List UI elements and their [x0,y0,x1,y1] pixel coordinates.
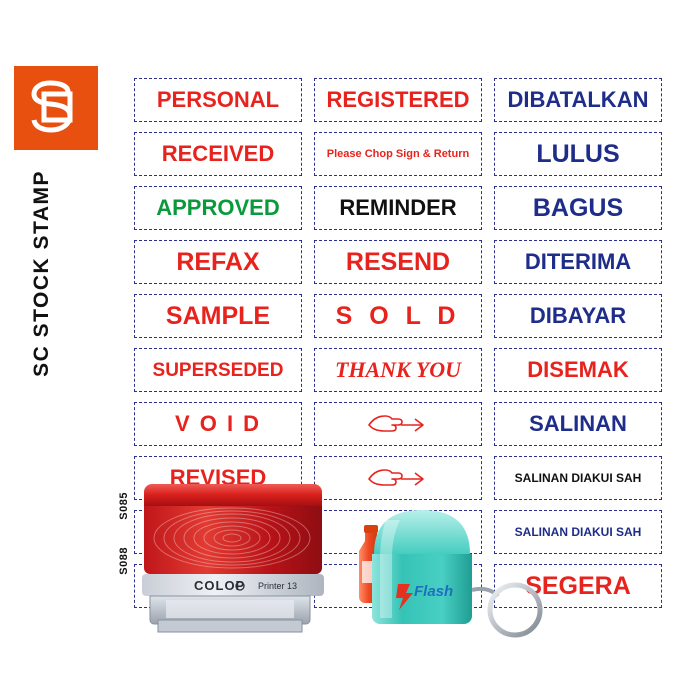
stamp-cell[interactable]: SALINAN DIAKUI SAH [494,456,662,500]
stamp-cell[interactable] [314,510,482,554]
sc-monogram-icon [14,66,98,150]
stamp-row: SESEGERA [134,564,664,608]
stamp-row: REVISEDSALINAN DIAKUI SAH [134,456,664,500]
stamp-label: Please Chop Sign & Return [327,149,469,160]
stamp-cell[interactable]: SUPERSEDED [134,348,302,392]
stamp-cell[interactable]: REMINDER [314,186,482,230]
stamp-label: SALINAN DIAKUI SAH [515,526,642,538]
stamp-label: DISEMAK [527,359,628,381]
product-code-s088: S088 [118,547,130,575]
brand-name: SC STOCK STAMP [30,170,54,377]
stamp-label: LULUS [536,142,619,167]
stamp-cell[interactable]: S O L D [314,294,482,338]
stamp-label: APPROVED [156,197,279,219]
stamp-grid: PERSONALREGISTEREDDIBATALKANRECEIVEDPlea… [134,78,664,618]
pointing-hand-right-icon [363,463,433,493]
stamp-row: RECSALINAN DIAKUI SAH [134,510,664,554]
stamp-label: S O L D [336,304,461,329]
stamp-row: REFAXRESENDDITERIMA [134,240,664,284]
stamp-cell[interactable]: DIBAYAR [494,294,662,338]
stamp-label: RECEIVED [162,143,274,165]
stamp-cell[interactable]: REFAX [134,240,302,284]
stamp-cell[interactable] [314,564,482,608]
stamp-label: REGISTERED [326,89,469,111]
stamp-label: V O I D [175,413,261,435]
stamp-row: RECEIVEDPlease Chop Sign & ReturnLULUS [134,132,664,176]
stamp-cell[interactable] [314,456,482,500]
stamp-label: SE [203,575,232,597]
stamp-row: APPROVEDREMINDERBAGUS [134,186,664,230]
stamp-cell[interactable]: DITERIMA [494,240,662,284]
stamp-cell[interactable]: SE [134,564,302,608]
stamp-cell[interactable]: Please Chop Sign & Return [314,132,482,176]
stamp-cell[interactable]: V O I D [134,402,302,446]
pointing-hand-right-icon [363,409,433,439]
stamp-cell[interactable]: BAGUS [494,186,662,230]
stamp-cell[interactable]: REGISTERED [314,78,482,122]
stamp-label: SEGERA [525,574,631,599]
stamp-label: THANK YOU [335,359,461,381]
stamp-cell[interactable]: RECEIVED [134,132,302,176]
stamp-label: SAMPLE [166,304,270,329]
stamp-cell[interactable]: REC [134,510,302,554]
stamp-cell[interactable]: PERSONAL [134,78,302,122]
stamp-label: PERSONAL [157,89,279,111]
stamp-label: SUPERSEDED [153,361,284,380]
stamp-label: RESEND [346,250,450,275]
stamp-cell[interactable] [314,402,482,446]
stamp-cell[interactable]: SEGERA [494,564,662,608]
stamp-cell[interactable]: DISEMAK [494,348,662,392]
stamp-row: V O I DSALINAN [134,402,664,446]
stamp-label: REC [195,521,241,543]
stamp-cell[interactable]: DIBATALKAN [494,78,662,122]
stamp-cell[interactable]: RESEND [314,240,482,284]
stamp-label: SALINAN [529,413,627,435]
product-code-s085: S085 [118,492,130,520]
stamp-label: REMINDER [339,197,456,219]
stamp-label: REFAX [176,250,259,275]
stamp-label: DIBATALKAN [508,89,649,111]
stamp-row: SAMPLES O L DDIBAYAR [134,294,664,338]
stamp-cell[interactable]: THANK YOU [314,348,482,392]
stamp-cell[interactable]: SALINAN DIAKUI SAH [494,510,662,554]
stamp-label: REVISED [170,467,267,489]
stamp-label: SALINAN DIAKUI SAH [515,472,642,484]
brand-logo [14,66,98,150]
stamp-label: BAGUS [533,196,623,221]
stamp-cell[interactable]: REVISED [134,456,302,500]
stamp-row: PERSONALREGISTEREDDIBATALKAN [134,78,664,122]
stamp-label: DIBAYAR [530,305,626,327]
stamp-cell[interactable]: LULUS [494,132,662,176]
stamp-cell[interactable]: SAMPLE [134,294,302,338]
stamp-cell[interactable]: SALINAN [494,402,662,446]
stamp-cell[interactable]: APPROVED [134,186,302,230]
stamp-label: DITERIMA [525,251,631,273]
stamp-row: SUPERSEDEDTHANK YOUDISEMAK [134,348,664,392]
